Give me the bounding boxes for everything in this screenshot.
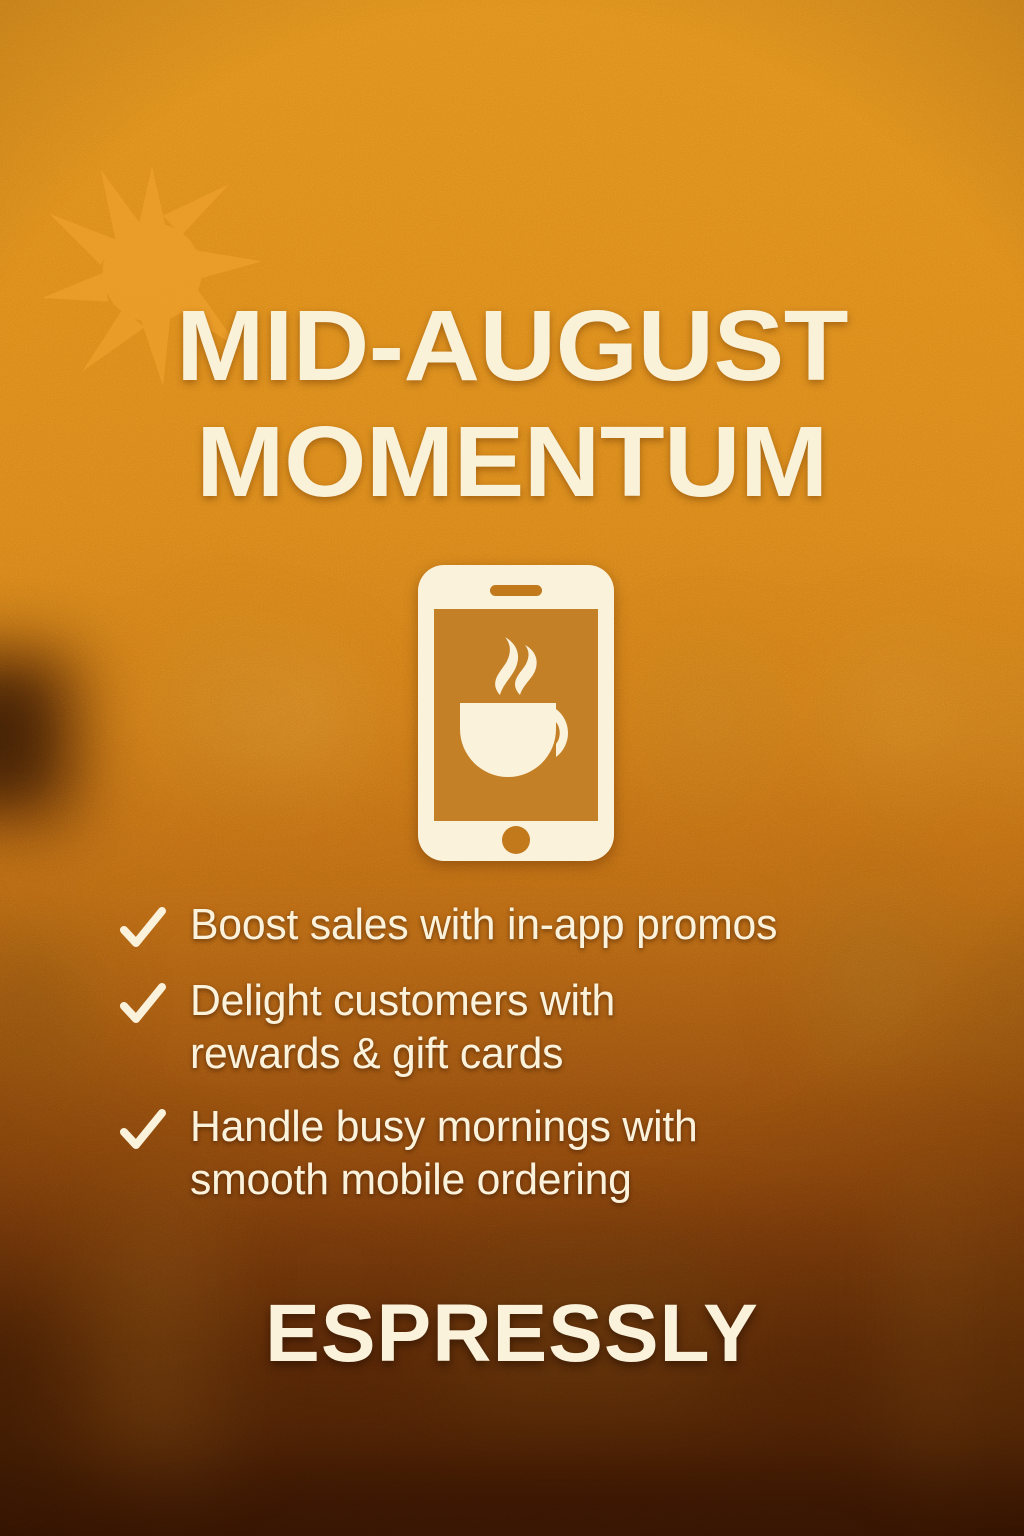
phone-coffee-icon: [416, 563, 616, 863]
promo-poster: MID-AUGUST MOMENTUM: [0, 0, 1024, 1536]
page-title: MID-AUGUST MOMENTUM: [0, 288, 1024, 520]
benefits-list: Boost sales with in-app promos Delight c…: [118, 898, 918, 1206]
headline-line-2: MOMENTUM: [0, 404, 1024, 520]
check-icon: [118, 1106, 168, 1156]
list-item: Handle busy mornings with smooth mobile …: [118, 1100, 918, 1206]
check-icon: [118, 980, 168, 1030]
brand-name: ESPRESSLY: [0, 1288, 1024, 1380]
headline-line-1: MID-AUGUST: [0, 288, 1024, 404]
list-item-label: Delight customers with rewards & gift ca…: [190, 974, 733, 1080]
list-item-label: Boost sales with in-app promos: [190, 898, 777, 951]
list-item: Boost sales with in-app promos: [118, 898, 918, 954]
list-item-label: Handle busy mornings with smooth mobile …: [190, 1100, 772, 1206]
list-item: Delight customers with rewards & gift ca…: [118, 974, 918, 1080]
check-icon: [118, 904, 168, 954]
